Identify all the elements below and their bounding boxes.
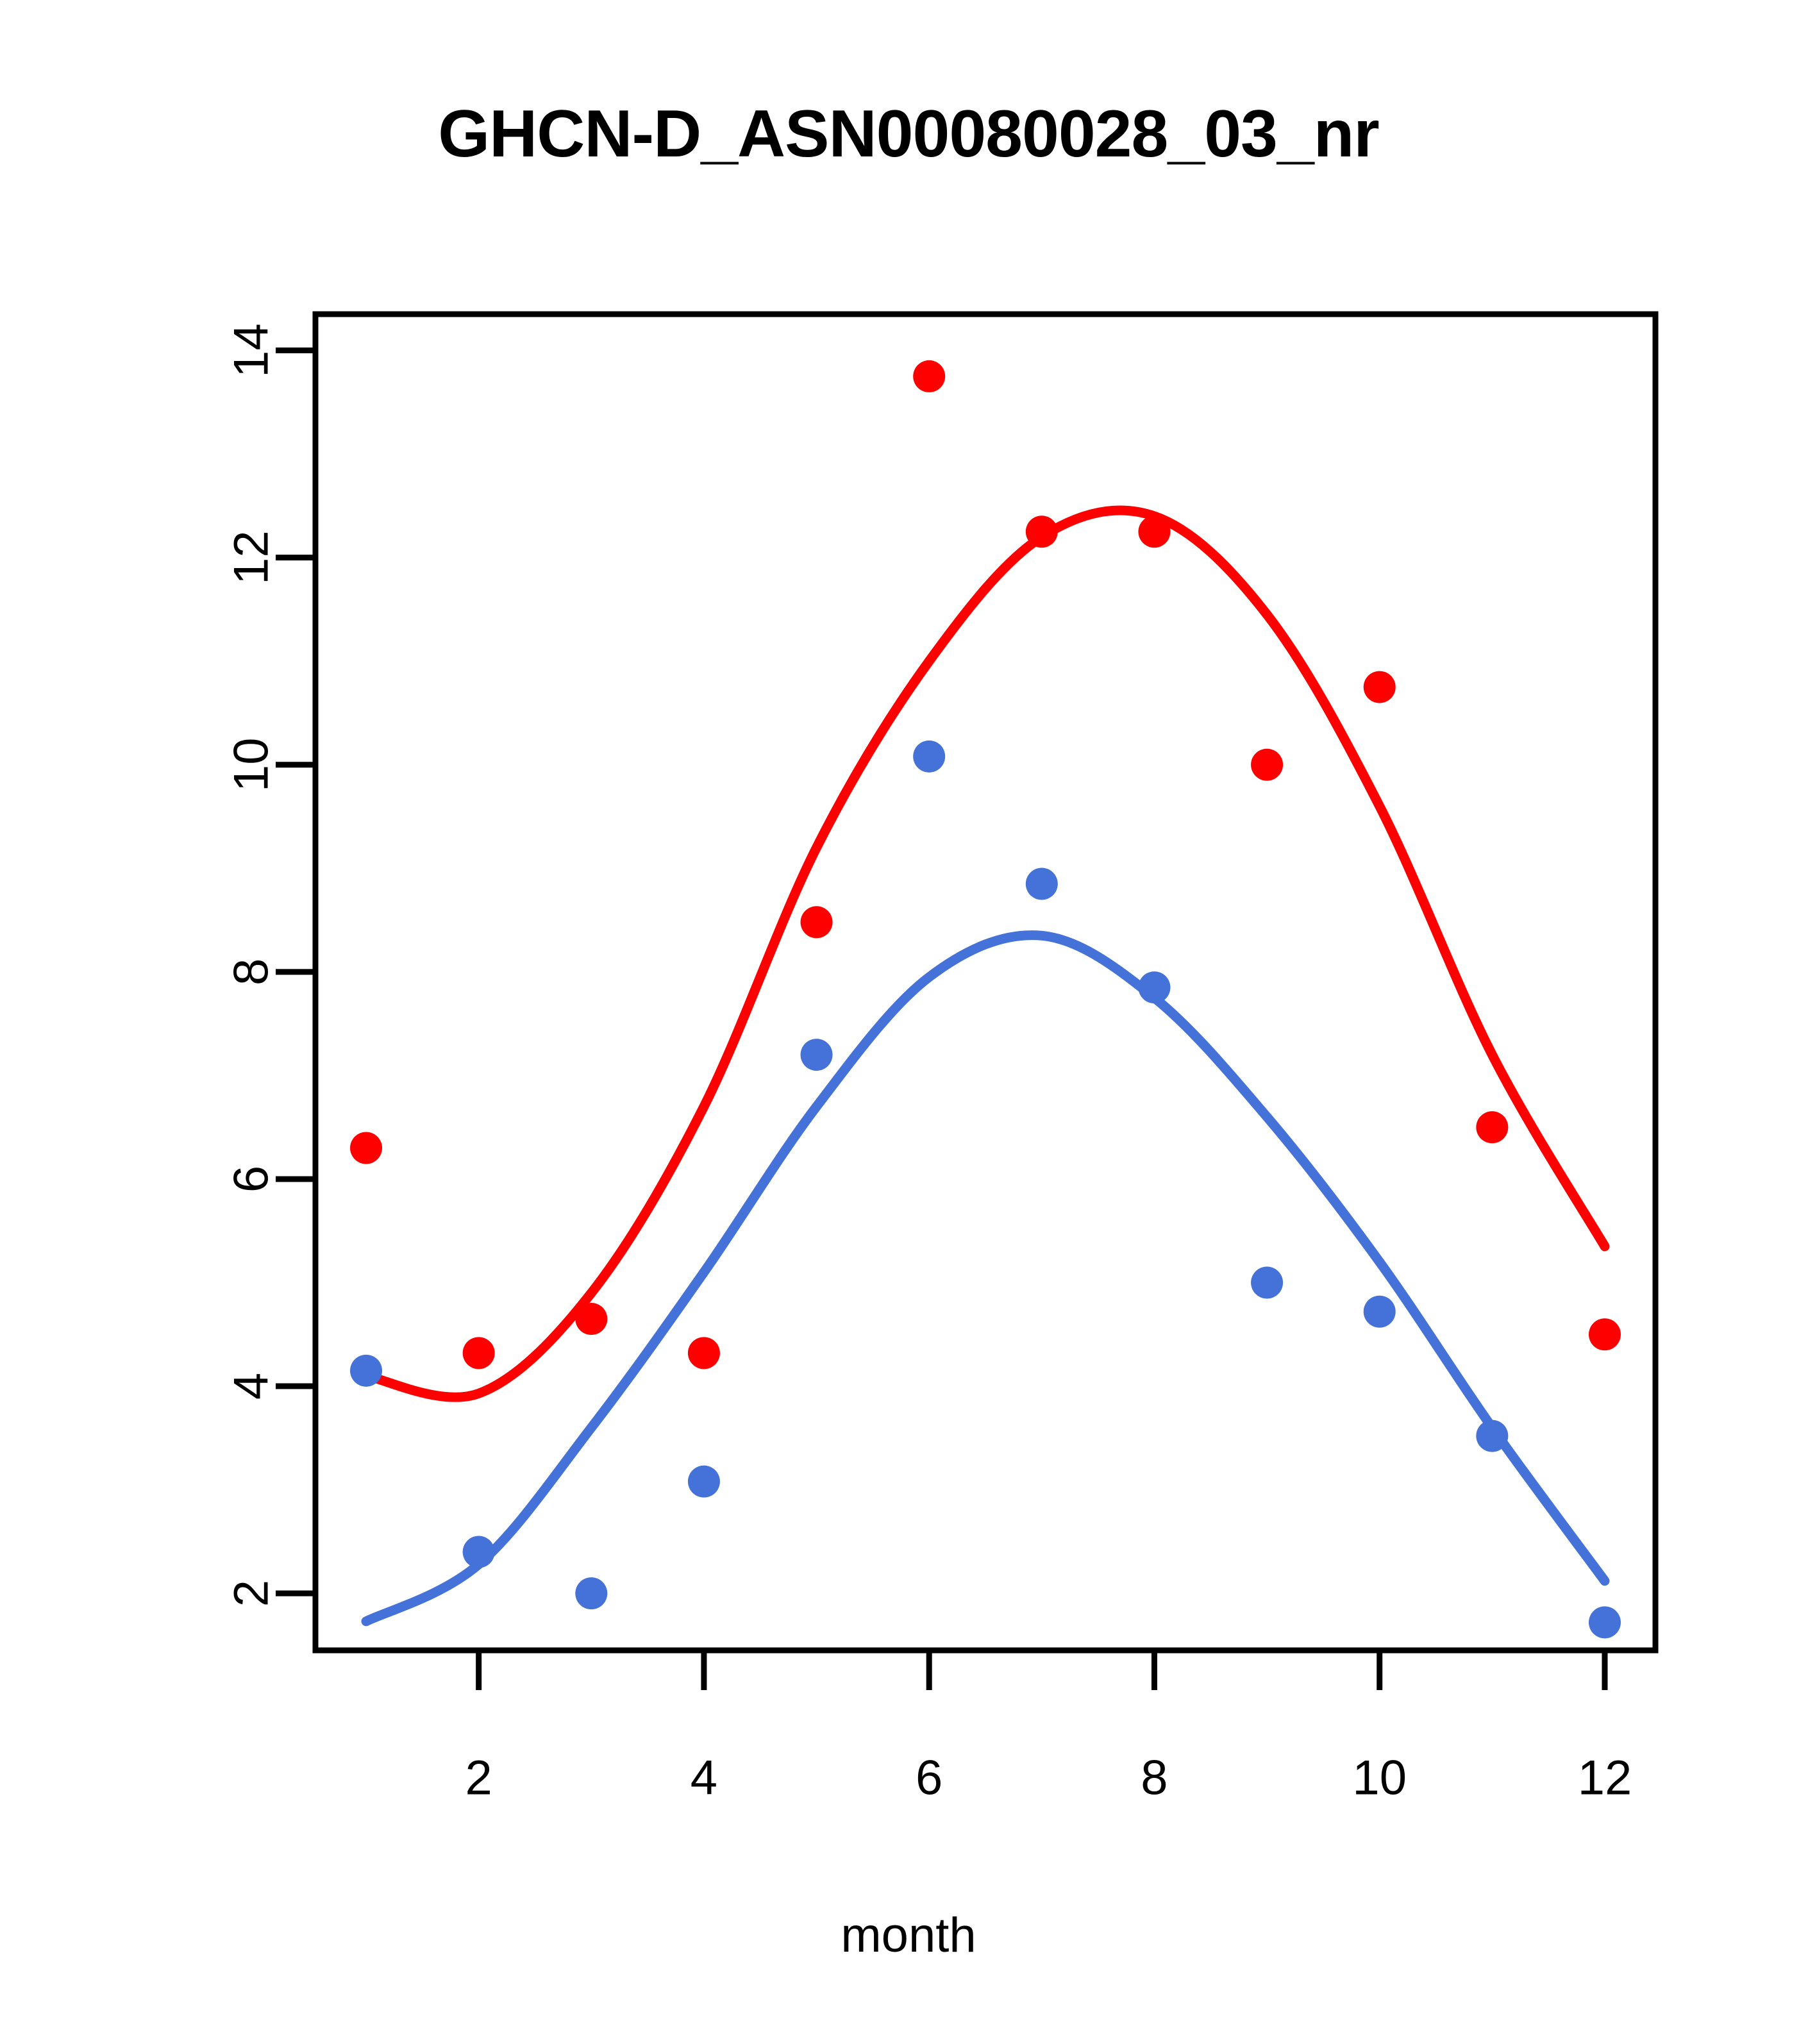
scatter-line-plot: 2468101214 24681012 xyxy=(0,0,1817,2044)
y-tick-label: 2 xyxy=(224,1580,279,1607)
data-point xyxy=(1364,671,1396,703)
data-point xyxy=(575,1303,607,1335)
series-line-red-line xyxy=(366,510,1605,1397)
series-line-blue-line xyxy=(366,935,1605,1621)
data-point xyxy=(688,1466,720,1498)
chart-page: GHCN-D_ASN00080028_03_nr 2468101214 2468… xyxy=(0,0,1817,2044)
x-axis-ticks xyxy=(479,1650,1605,1690)
data-point xyxy=(913,360,945,392)
data-point xyxy=(801,906,833,938)
y-tick-label: 8 xyxy=(224,959,279,985)
data-point xyxy=(1026,515,1058,548)
data-point xyxy=(350,1132,382,1164)
x-axis-label: month xyxy=(0,1907,1817,1963)
data-point xyxy=(1589,1318,1621,1350)
x-axis-tick-labels: 24681012 xyxy=(465,1750,1632,1805)
data-point xyxy=(1026,868,1058,900)
y-tick-label: 10 xyxy=(224,737,279,792)
y-axis-ticks xyxy=(276,351,315,1594)
y-tick-label: 12 xyxy=(224,530,279,585)
data-point xyxy=(1589,1606,1621,1638)
data-point xyxy=(1251,749,1283,781)
x-tick-label: 6 xyxy=(916,1750,942,1805)
series-points-layer xyxy=(350,360,1621,1638)
y-tick-label: 6 xyxy=(224,1166,279,1193)
y-tick-label: 4 xyxy=(224,1373,279,1400)
x-tick-label: 2 xyxy=(465,1750,492,1805)
x-tick-label: 4 xyxy=(691,1750,717,1805)
data-point xyxy=(688,1337,720,1369)
data-point xyxy=(463,1337,495,1369)
x-tick-label: 12 xyxy=(1578,1750,1632,1805)
data-point xyxy=(913,741,945,773)
data-point xyxy=(1138,971,1170,1003)
data-point xyxy=(1364,1296,1396,1328)
x-tick-label: 10 xyxy=(1352,1750,1407,1805)
series-lines-layer xyxy=(366,510,1605,1621)
y-tick-label: 14 xyxy=(224,323,279,378)
data-point xyxy=(575,1577,607,1609)
data-point xyxy=(350,1355,382,1387)
data-point xyxy=(1251,1266,1283,1298)
x-tick-label: 8 xyxy=(1141,1750,1168,1805)
data-point xyxy=(801,1039,833,1071)
data-point xyxy=(1476,1111,1508,1143)
data-point xyxy=(463,1536,495,1568)
data-point xyxy=(1138,515,1170,548)
y-axis-tick-labels: 2468101214 xyxy=(224,323,279,1607)
data-point xyxy=(1476,1420,1508,1452)
